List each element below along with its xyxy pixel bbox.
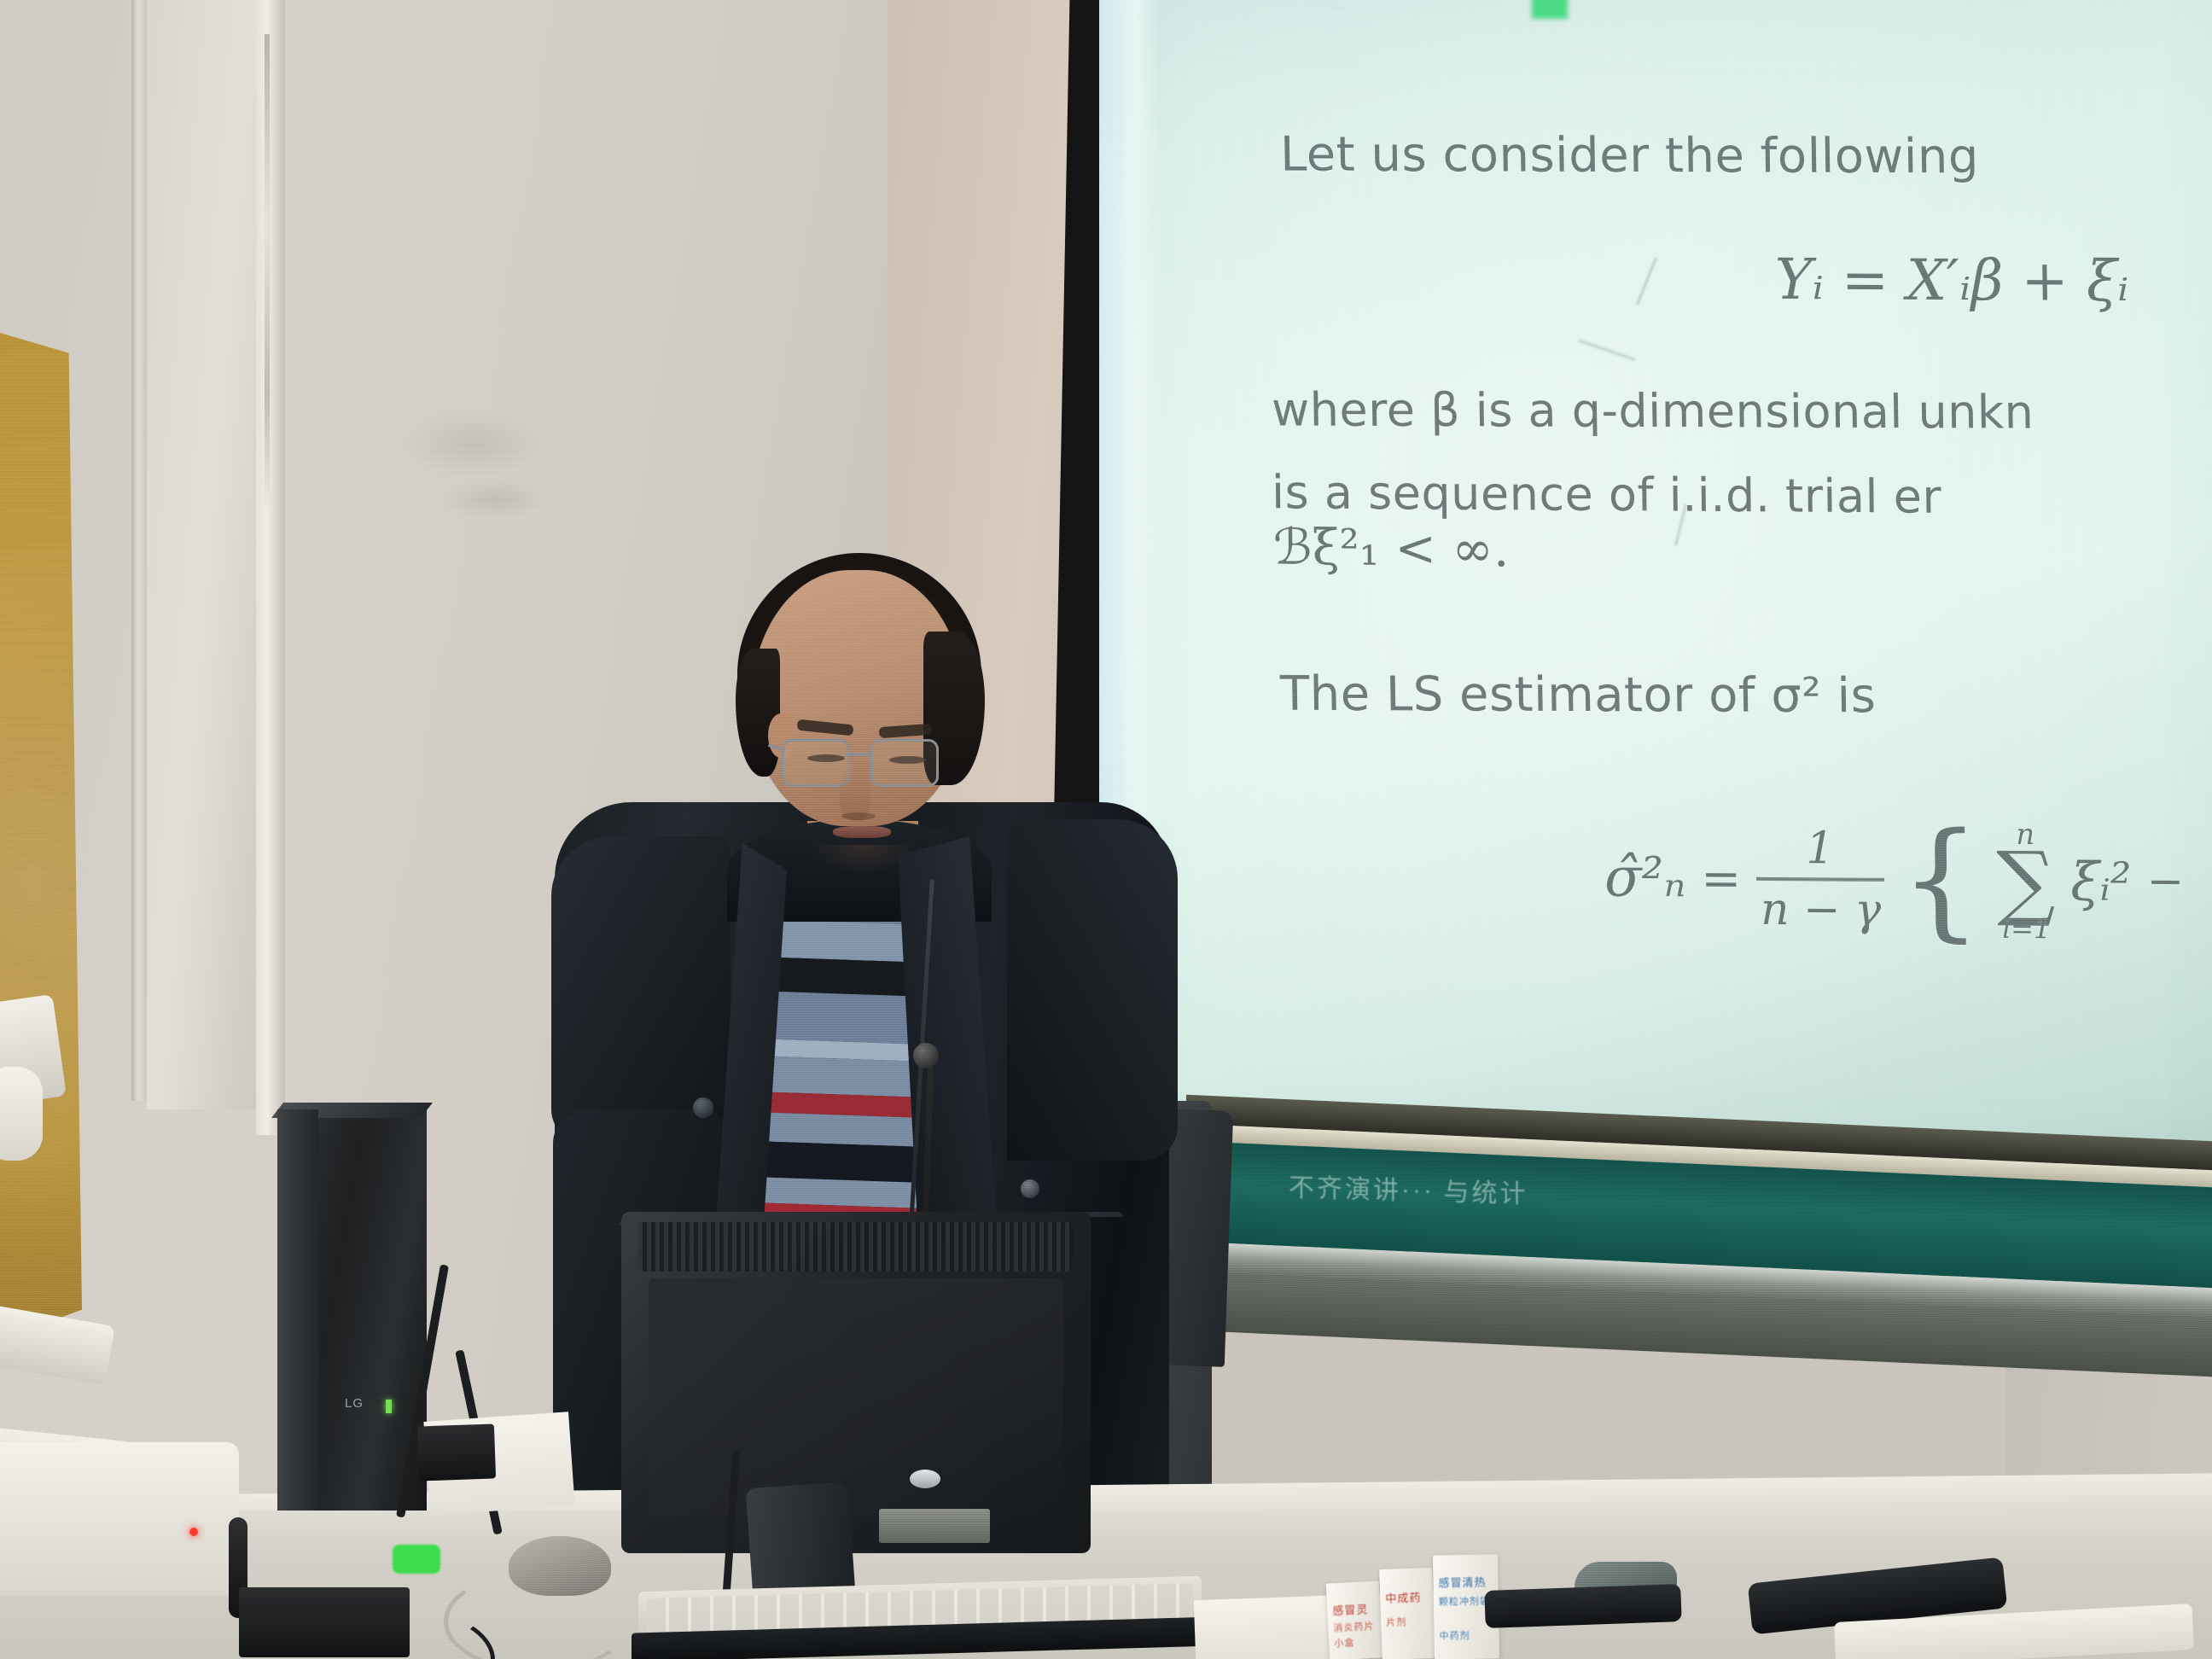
slide-line-1: Let us consider the following [1280, 127, 1980, 185]
wall-panel-tan [0, 333, 82, 1340]
monitor-vent-grille [638, 1222, 1074, 1272]
monitor-spec-label [879, 1509, 990, 1543]
door-frame-right [256, 0, 285, 1135]
slide-line-3: where β is a q-dimensional unkn [1272, 382, 2034, 439]
monitor-rear-panel [649, 1278, 1063, 1517]
formula-numerator: 1 [1806, 827, 1835, 871]
mobile-phone-dark[interactable] [1484, 1584, 1681, 1628]
slide-line-4: is a sequence of i.i.d. trial er [1272, 465, 1942, 523]
door-slab[interactable] [147, 0, 258, 1109]
eyeglass-lens-left [782, 739, 850, 787]
formula-sum-symbol: ∑ [1996, 849, 2055, 915]
jacket-button-1 [693, 1097, 713, 1118]
box-1-line-3: 小盒 [1334, 1636, 1379, 1650]
green-highlight-mark [1532, 0, 1568, 19]
microphone-clip [1021, 1179, 1039, 1198]
formula-left-brace: { [1899, 830, 1982, 931]
formula-denominator: n − γ [1761, 888, 1882, 933]
eyeglass-bridge [845, 753, 872, 756]
presenter-mouth [833, 826, 891, 838]
microphone-capsule[interactable] [913, 1043, 939, 1068]
pc-tower-logo: LG [345, 1396, 384, 1412]
green-cable-clip [393, 1545, 440, 1574]
wall-smudge [401, 410, 546, 478]
blackboard: 不齐演讲··· 与统计 [1186, 1095, 2212, 1398]
box-2-line-2: 片剂 [1386, 1615, 1430, 1629]
box-1-line-1: 感冒灵 [1332, 1604, 1377, 1620]
list-item[interactable]: 中成药 片剂 [1379, 1568, 1435, 1659]
document-camera[interactable] [0, 1442, 239, 1596]
wall-smudge-secondary [444, 478, 546, 521]
screenshot-scene: Let us consider the following Yᵢ = X′ᵢβ … [0, 0, 2212, 1659]
formula-sum-lower: i=1 [2002, 915, 2052, 942]
box-3-line-3: 中药剂 [1439, 1629, 1495, 1642]
formula-lhs: σ̂²ₙ [1604, 847, 1686, 911]
remote-control[interactable] [417, 1423, 496, 1481]
box-3-line-1: 感冒清热 [1438, 1576, 1494, 1591]
blackboard-chalk-text: 不齐演讲··· 与统计 [1289, 1167, 1528, 1211]
formula-term: ξᵢ² [2070, 850, 2132, 913]
pc-power-led [386, 1400, 392, 1413]
monitor-brand-badge [910, 1470, 940, 1488]
slide-equation-model: Yᵢ = X′ᵢβ + ξᵢ [1774, 247, 2128, 314]
presenter-nostrils [841, 812, 876, 820]
slide-moment-condition: ℬξ²₁ < ∞. [1273, 518, 1510, 579]
visualizer-head [0, 1067, 43, 1161]
chin-shadow [812, 845, 915, 874]
slide-estimator-formula: σ̂²ₙ = 1 n − γ { n ∑ i=1 ξᵢ² − [1604, 818, 2185, 944]
status-led-red [189, 1528, 198, 1536]
formula-equals: = [1701, 851, 1742, 906]
pc-tower-front-panel [277, 1109, 318, 1511]
box-2-line-1: 中成药 [1385, 1592, 1430, 1607]
formula-fraction-bar [1756, 877, 1884, 882]
formula-trailing-op: − [2146, 856, 2184, 907]
list-item[interactable]: 感冒灵 消炎药片 小盒 [1326, 1580, 1383, 1659]
jacket-shoulder-right [1007, 819, 1178, 1161]
box-1-line-2: 消炎药片 [1333, 1621, 1378, 1634]
slide-line-6: The LS estimator of σ² is [1280, 667, 1877, 724]
eyeglass-lens-right [870, 739, 939, 787]
door-frame-left [131, 0, 147, 1101]
